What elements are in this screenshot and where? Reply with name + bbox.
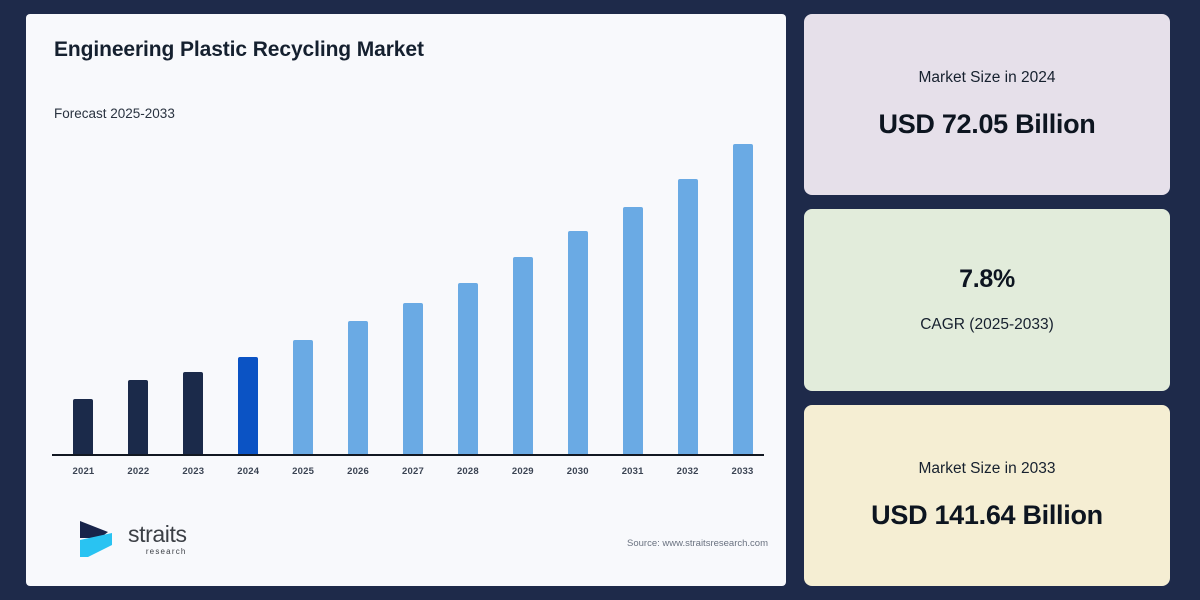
bar-2030 (568, 231, 588, 454)
stat-card-list: Market Size in 2024USD 72.05 Billion7.8%… (804, 14, 1182, 586)
bar-2033 (733, 144, 753, 454)
stat-card-label: Market Size in 2033 (919, 460, 1056, 478)
bar-slot-2027 (386, 144, 441, 454)
bar-slot-2030 (550, 144, 605, 454)
source-attribution: Source: www.straitsresearch.com (627, 538, 768, 549)
bar-2023 (183, 372, 203, 454)
bar-slot-2028 (440, 144, 495, 454)
x-axis-label-2030: 2030 (550, 466, 605, 477)
bar-2022 (128, 380, 148, 454)
x-axis-label-2026: 2026 (331, 466, 386, 477)
x-axis-label-2028: 2028 (440, 466, 495, 477)
x-axis-label-2025: 2025 (276, 466, 331, 477)
bar-2021 (73, 399, 93, 454)
bar-slot-2032 (660, 144, 715, 454)
bar-slot-2024 (221, 144, 276, 454)
x-axis-label-2033: 2033 (715, 466, 770, 477)
bar-series (56, 144, 770, 454)
bar-slot-2026 (331, 144, 386, 454)
bar-slot-2029 (495, 144, 550, 454)
x-axis-label-2027: 2027 (386, 466, 441, 477)
x-axis-label-2021: 2021 (56, 466, 111, 477)
stat-card-market-size-2024: Market Size in 2024USD 72.05 Billion (804, 14, 1170, 195)
logo-wordmark: straits research (128, 523, 187, 556)
logo-word: straits (128, 523, 187, 546)
straits-research-arrow-logo (78, 519, 120, 559)
infographic-root: Engineering Plastic Recycling Market For… (0, 0, 1200, 600)
bar-slot-2022 (111, 144, 166, 454)
stat-card-value: USD 72.05 Billion (879, 109, 1096, 140)
bar-2026 (348, 321, 368, 454)
bar-2029 (513, 257, 533, 454)
bar-slot-2025 (276, 144, 331, 454)
bar-2025 (293, 340, 313, 454)
bar-2032 (678, 179, 698, 454)
bar-slot-2031 (605, 144, 660, 454)
chart-subtitle: Forecast 2025-2033 (54, 106, 175, 121)
bar-2027 (403, 303, 423, 454)
bar-slot-2021 (56, 144, 111, 454)
x-axis-label-2022: 2022 (111, 466, 166, 477)
bar-2031 (623, 207, 643, 454)
stat-card-value: USD 141.64 Billion (871, 500, 1103, 531)
x-axis-label-2024: 2024 (221, 466, 276, 477)
bar-2024 (238, 357, 258, 454)
stat-card-cagr: 7.8%CAGR (2025-2033) (804, 209, 1170, 390)
bar-slot-2023 (166, 144, 221, 454)
x-axis-label-2023: 2023 (166, 466, 221, 477)
x-axis-tick-labels: 2021202220232024202520262027202820292030… (56, 466, 770, 477)
x-axis-label-2031: 2031 (605, 466, 660, 477)
bar-2028 (458, 283, 478, 454)
bar-slot-2033 (715, 144, 770, 454)
stat-card-label: CAGR (2025-2033) (920, 316, 1054, 334)
stat-card-value: 7.8% (959, 265, 1015, 294)
x-axis-line (52, 454, 764, 456)
bar-chart-plot-area (56, 144, 770, 454)
stat-card-market-size-2033: Market Size in 2033USD 141.64 Billion (804, 405, 1170, 586)
x-axis-label-2029: 2029 (495, 466, 550, 477)
x-axis-label-2032: 2032 (660, 466, 715, 477)
stat-card-label: Market Size in 2024 (919, 69, 1056, 87)
page-title: Engineering Plastic Recycling Market (54, 38, 424, 62)
chart-panel: Engineering Plastic Recycling Market For… (26, 14, 786, 586)
brand-logo: straits research (78, 519, 187, 559)
logo-subword: research (146, 548, 187, 556)
